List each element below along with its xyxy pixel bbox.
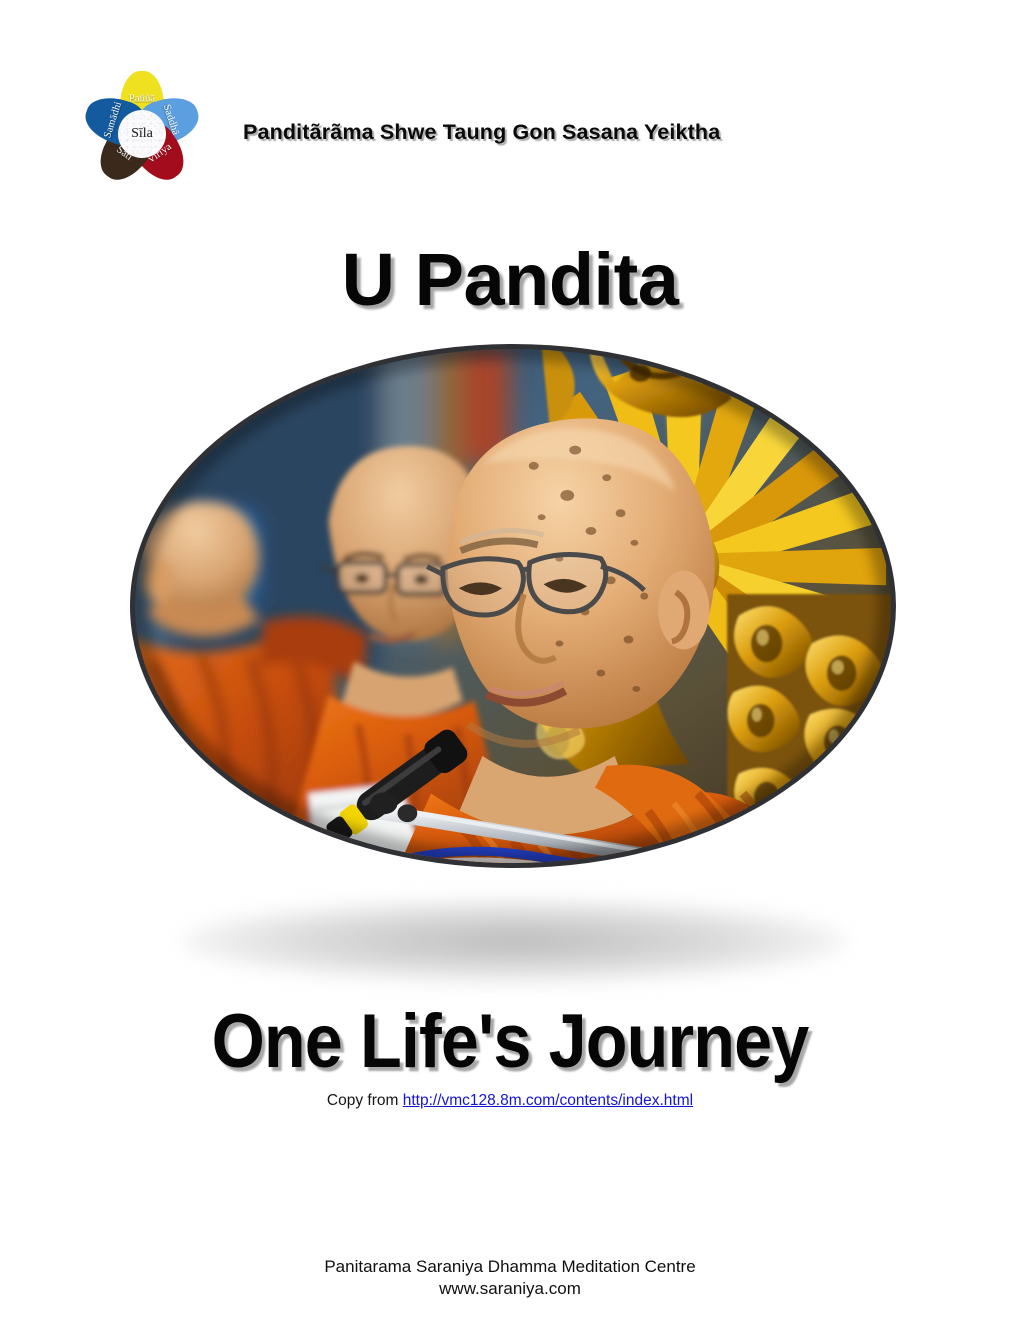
- footer-website: www.saraniya.com: [0, 1278, 1020, 1300]
- logo-center-label: Sīla: [131, 126, 153, 142]
- organization-title: Panditãrãma Shwe Taung Gon Sasana Yeikth…: [243, 120, 720, 145]
- portrait-photo-container: [130, 344, 896, 868]
- footer: Panitarama Saraniya Dhamma Meditation Ce…: [0, 1256, 1020, 1300]
- footer-organization-name: Panitarama Saraniya Dhamma Meditation Ce…: [0, 1256, 1020, 1278]
- header: Paññā Saddhā Viriya Sati Samādhi Sīla Pa…: [0, 0, 1020, 215]
- logo-center-circle: Sīla: [118, 110, 166, 158]
- oval-portrait-u-pandita: [130, 344, 896, 868]
- source-url-link[interactable]: http://vmc128.8m.com/contents/index.html: [403, 1092, 693, 1109]
- photo-drop-shadow: [182, 899, 847, 983]
- source-credit-line: Copy from http://vmc128.8m.com/contents/…: [0, 1092, 1020, 1110]
- copy-from-label: Copy from: [327, 1092, 403, 1109]
- page-title: U Pandita: [0, 243, 1020, 317]
- page-subtitle: One Life's Journey: [51, 1004, 969, 1080]
- five-petal-dhamma-flower-logo: Paññā Saddhā Viriya Sati Samādhi Sīla: [74, 68, 208, 192]
- portrait-illustration: [135, 349, 891, 863]
- book-cover-page: { "page": { "background_color": "#ffffff…: [0, 0, 1020, 1320]
